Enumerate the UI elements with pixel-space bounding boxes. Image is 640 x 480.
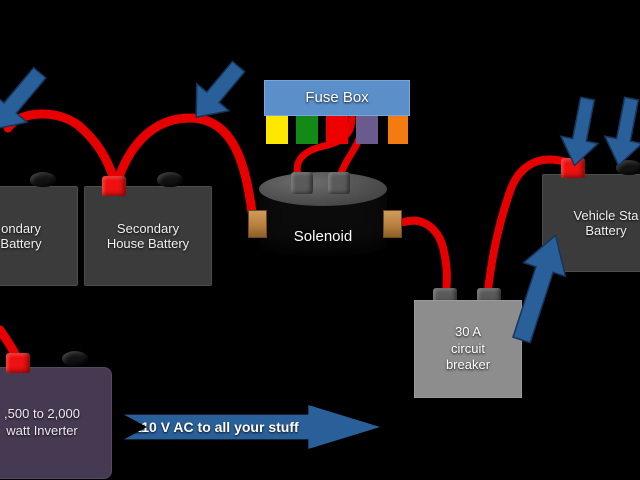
pointer-arrow-top-left [0,60,48,140]
breaker-line3: breaker [446,357,490,374]
fuse-strip [264,116,408,144]
pointer-arrow-top-right-a [558,96,604,168]
fuse-purple[interactable] [356,116,378,144]
solenoid-top-plate [259,172,387,206]
battery-left-line1: ondary [0,221,41,236]
solenoid-terminal-right[interactable] [383,210,402,238]
pointer-arrow-top-mid [182,56,250,128]
secondary-house-battery-label: Secondary House Battery [103,221,193,252]
house-battery-line1: Secondary [107,221,189,236]
wiring-diagram-canvas: Fuse Box ondary Battery Secondary House … [0,0,640,480]
inverter[interactable]: ,500 to 2,000 watt Inverter [0,367,112,479]
house-battery-negative-terminal[interactable] [157,172,183,187]
fuse-red[interactable] [326,116,348,144]
ac-output-label: 110 V AC to all your stuff [125,419,308,436]
breaker-line2: circuit [446,341,490,358]
pointer-arrow-breaker [504,228,570,344]
secondary-battery-left[interactable]: ondary Battery [0,186,78,286]
secondary-battery-left-label: ondary Battery [0,221,46,252]
vehicle-battery-line2: Battery [573,223,638,238]
fuse-box-header[interactable]: Fuse Box [264,80,410,116]
battery-left-line2: Battery [0,236,41,251]
solenoid-post-left[interactable] [291,172,313,194]
secondary-house-battery[interactable]: Secondary House Battery [84,186,212,286]
fuse-yellow[interactable] [266,116,288,144]
pointer-arrow-top-right-b [602,96,640,168]
solenoid-terminal-left[interactable] [248,210,267,238]
fuse-green[interactable] [296,116,318,144]
house-battery-positive-terminal[interactable] [102,176,126,196]
breaker-line1: 30 A [446,324,490,341]
vehicle-battery-line1: Vehicle Sta [573,208,638,223]
fuse-orange[interactable] [388,116,408,144]
solenoid-post-right[interactable] [328,172,350,194]
inverter-negative-terminal[interactable] [62,351,88,366]
inverter-line1: ,500 to 2,000 [4,406,80,423]
house-battery-line2: House Battery [107,236,189,251]
fuse-box-label: Fuse Box [305,89,368,107]
inverter-line2: watt Inverter [4,423,80,440]
battery-left-negative-terminal[interactable] [30,172,56,187]
inverter-label: ,500 to 2,000 watt Inverter [4,406,80,440]
vehicle-starting-battery-label: Vehicle Sta Battery [569,208,640,239]
circuit-breaker-label: 30 A circuit breaker [446,324,490,374]
inverter-positive-terminal[interactable] [6,353,30,373]
